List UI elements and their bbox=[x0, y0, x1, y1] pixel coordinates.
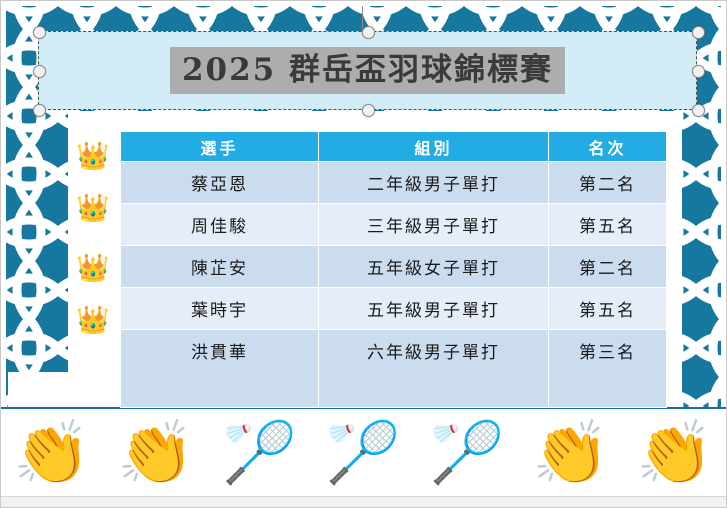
crown-decoration-column: 👑 👑 👑 👑 bbox=[76, 134, 116, 374]
cell-player: 蔡亞恩 bbox=[121, 162, 319, 204]
crown-icon: 👑 bbox=[76, 252, 110, 286]
page-title: 2025 群岳盃羽球錦標賽 bbox=[170, 47, 565, 94]
column-header-group: 組別 bbox=[319, 132, 549, 162]
results-table: 選手 組別 名次 蔡亞恩 二年級男子單打 第二名 周佳駿 三年級男子單打 第五名… bbox=[120, 131, 667, 408]
resize-handle-top-left[interactable] bbox=[33, 26, 46, 39]
crown-icon: 👑 bbox=[76, 192, 110, 226]
slide-canvas: 2025 群岳盃羽球錦標賽 👑 👑 👑 👑 選手 組別 名次 蔡亞恩 bbox=[0, 0, 727, 508]
resize-handle-bottom-right[interactable] bbox=[692, 104, 705, 117]
crown-icon: 👑 bbox=[76, 304, 110, 338]
content-page-left-extension bbox=[8, 372, 68, 408]
cell-player: 周佳駿 bbox=[121, 204, 319, 246]
column-header-rank: 名次 bbox=[549, 132, 667, 162]
table-row: 蔡亞恩 二年級男子單打 第二名 bbox=[121, 162, 667, 204]
clapping-hands-icon: 👏 bbox=[104, 409, 208, 497]
column-header-player: 選手 bbox=[121, 132, 319, 162]
cell-rank: 第三名 bbox=[549, 330, 667, 408]
cell-group: 六年級男子單打 bbox=[319, 330, 549, 408]
results-table-container: 選手 組別 名次 蔡亞恩 二年級男子單打 第二名 周佳駿 三年級男子單打 第五名… bbox=[120, 131, 666, 408]
table-row: 洪貫華 六年級男子單打 第三名 bbox=[121, 330, 667, 408]
clapping-hands-icon: 👏 bbox=[623, 409, 727, 497]
resize-handle-top-right[interactable] bbox=[692, 26, 705, 39]
cell-group: 五年級男子單打 bbox=[319, 288, 549, 330]
badminton-shuttlecock-icon: 🏸 bbox=[311, 409, 415, 497]
cell-rank: 第五名 bbox=[549, 288, 667, 330]
bottom-decoration-row: 👏 👏 🏸 🏸 🏸 👏 👏 bbox=[0, 409, 727, 497]
badminton-shuttlecock-icon: 🏸 bbox=[208, 409, 312, 497]
cell-player: 陳芷安 bbox=[121, 246, 319, 288]
badminton-shuttlecock-icon: 🏸 bbox=[415, 409, 519, 497]
table-row: 陳芷安 五年級女子單打 第二名 bbox=[121, 246, 667, 288]
cell-rank: 第二名 bbox=[549, 246, 667, 288]
resize-handle-bottom-center[interactable] bbox=[362, 104, 375, 117]
cell-rank: 第二名 bbox=[549, 162, 667, 204]
clapping-hands-icon: 👏 bbox=[519, 409, 623, 497]
cell-player: 洪貫華 bbox=[121, 330, 319, 408]
cell-player: 葉時宇 bbox=[121, 288, 319, 330]
resize-handle-bottom-left[interactable] bbox=[33, 104, 46, 117]
clapping-hands-icon: 👏 bbox=[0, 409, 104, 497]
cell-group: 五年級女子單打 bbox=[319, 246, 549, 288]
table-row: 周佳駿 三年級男子單打 第五名 bbox=[121, 204, 667, 246]
crown-icon: 👑 bbox=[76, 140, 110, 174]
resize-handle-middle-left[interactable] bbox=[33, 65, 46, 78]
table-row: 葉時宇 五年級男子單打 第五名 bbox=[121, 288, 667, 330]
resize-handle-top-center[interactable] bbox=[362, 26, 375, 39]
bottom-gray-strip bbox=[0, 496, 727, 508]
table-header-row: 選手 組別 名次 bbox=[121, 132, 667, 162]
resize-handle-middle-right[interactable] bbox=[692, 65, 705, 78]
cell-group: 二年級男子單打 bbox=[319, 162, 549, 204]
cell-group: 三年級男子單打 bbox=[319, 204, 549, 246]
cell-rank: 第五名 bbox=[549, 204, 667, 246]
title-textbox[interactable]: 2025 群岳盃羽球錦標賽 bbox=[38, 31, 697, 110]
